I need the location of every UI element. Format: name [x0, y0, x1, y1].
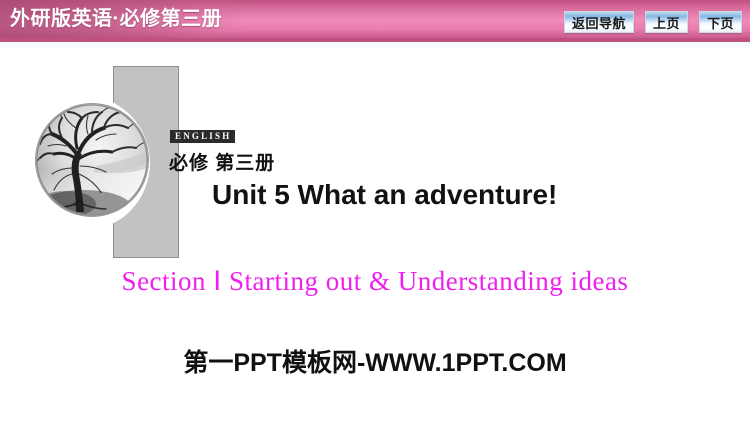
unit-title: Unit 5 What an adventure!: [212, 179, 557, 211]
english-badge: ENGLISH: [170, 130, 235, 143]
volume-label: 必修 第三册: [169, 148, 275, 175]
site-watermark: 第一PPT模板网-WWW.1PPT.COM: [0, 343, 750, 379]
tree-circle-photo: [36, 104, 148, 216]
header-title: 外研版英语·必修第三册: [10, 7, 222, 31]
return-to-navigation-button[interactable]: 返回导航: [564, 11, 634, 33]
header-underline-gradient: [0, 42, 750, 51]
previous-page-button[interactable]: 上页: [645, 11, 688, 33]
section-title: Section Ⅰ Starting out & Understanding i…: [0, 266, 750, 297]
next-page-button[interactable]: 下页: [699, 11, 742, 33]
header-nav-button-group: 返回导航 上页 下页: [564, 11, 742, 33]
